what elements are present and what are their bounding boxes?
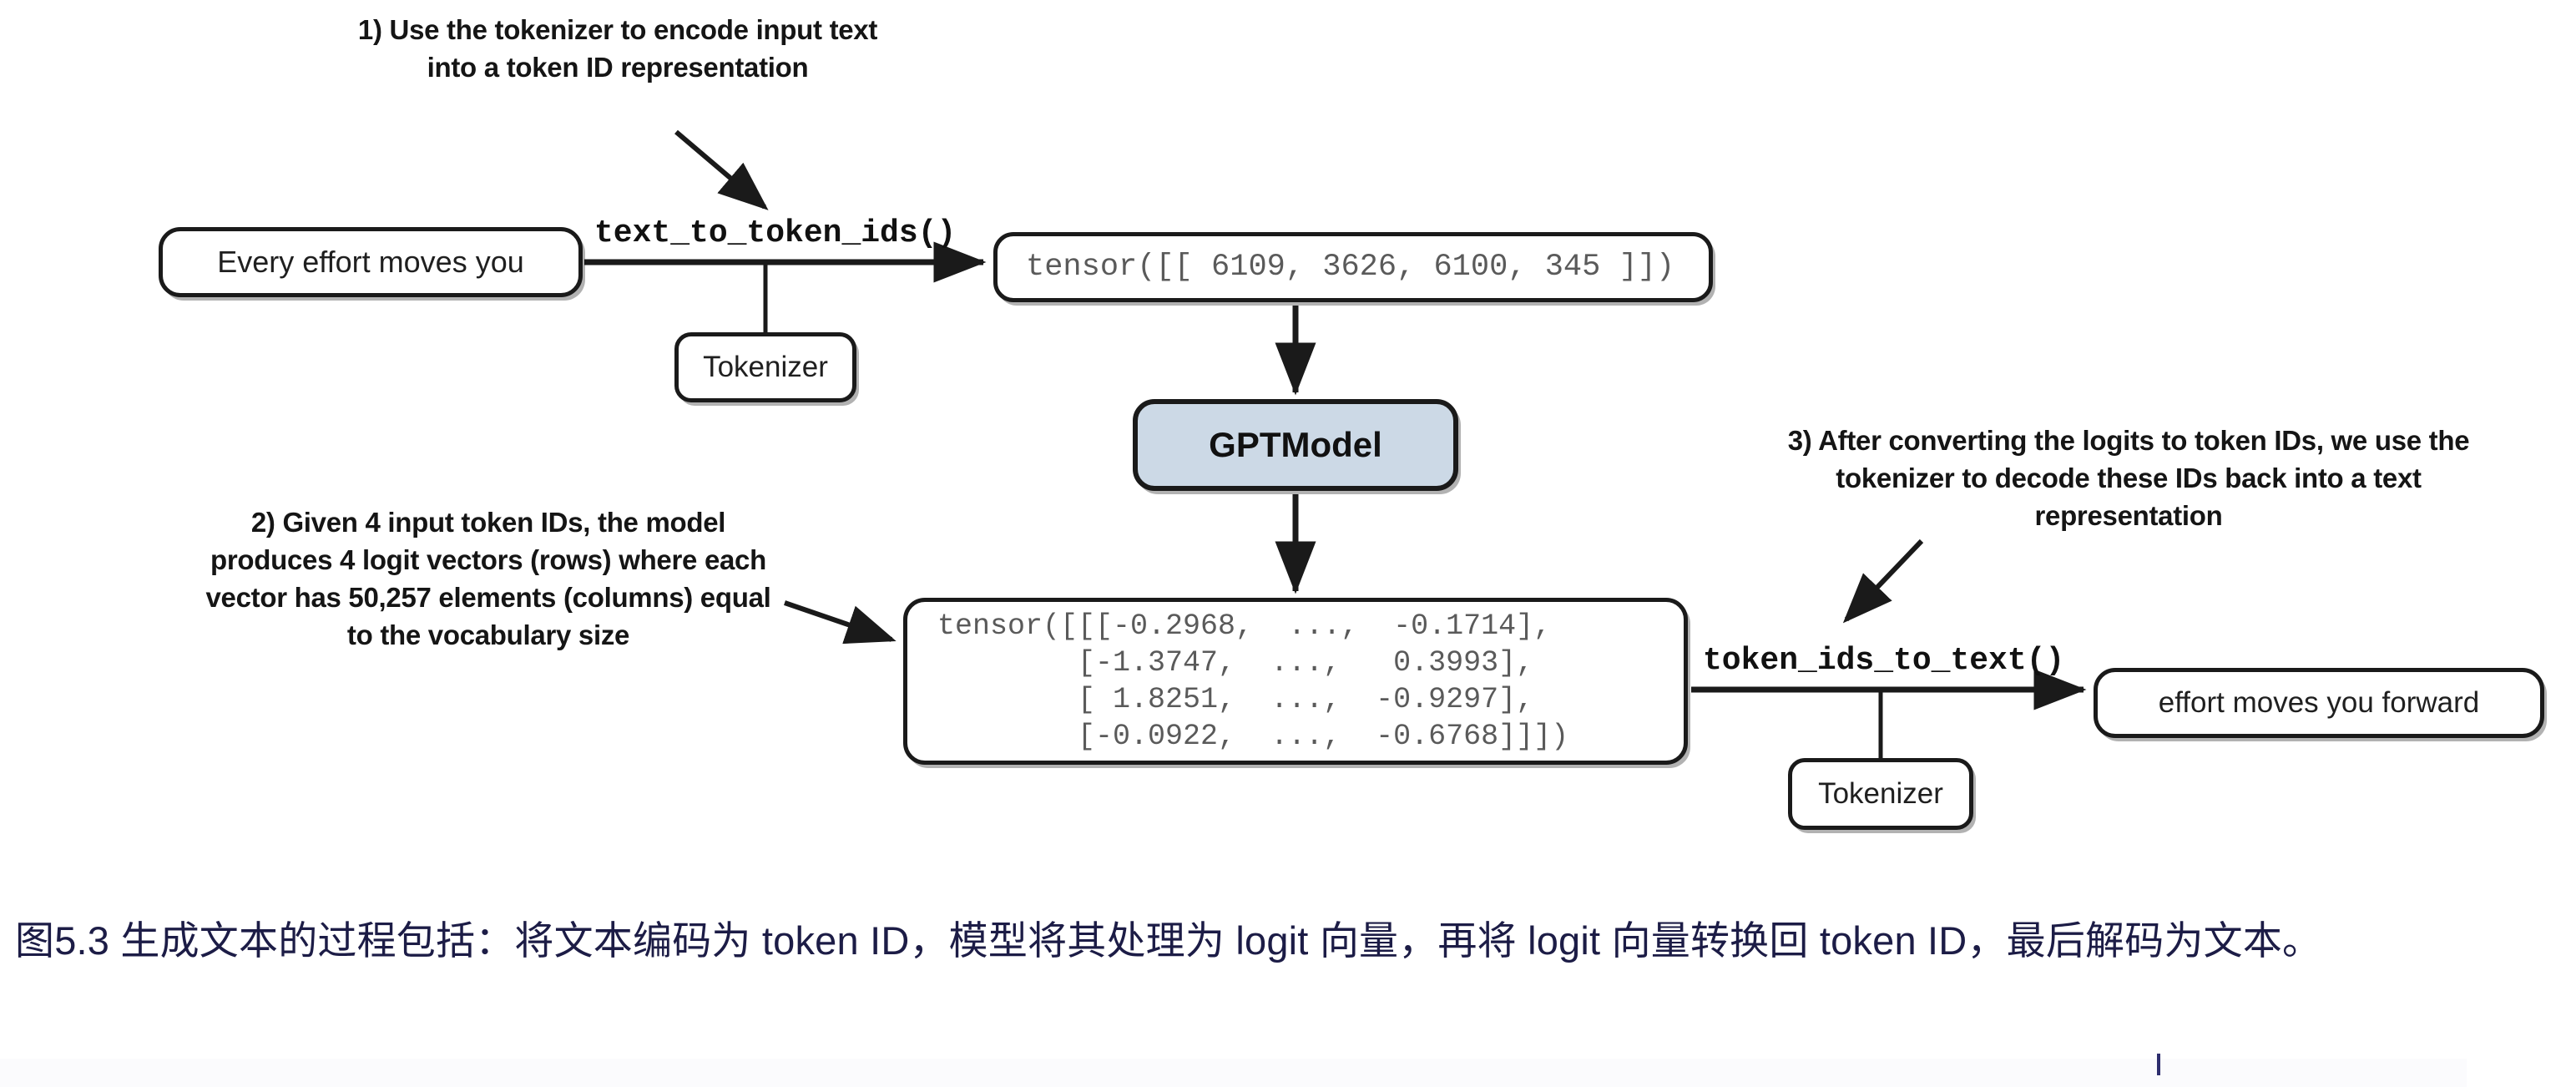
caption-background-wash	[0, 1059, 2467, 1087]
edge-label-token-ids-to-text: token_ids_to_text()	[1703, 643, 2064, 679]
tokenizer-box-encode: Tokenizer	[674, 332, 856, 402]
tokenizer-encode-label: Tokenizer	[703, 351, 828, 384]
input-text-label: Every effort moves you	[217, 245, 524, 280]
edge-label-text-to-token-ids: text_to_token_ids()	[594, 215, 956, 251]
annotation-step-1: 1) Use the tokenizer to encode input tex…	[330, 12, 906, 87]
logits-tensor-box: tensor([[[-0.2968, ..., -0.1714], [-1.37…	[903, 598, 1688, 765]
gpt-model-label: GPTModel	[1209, 425, 1382, 465]
token-ids-tensor-box: tensor([[ 6109, 3626, 6100, 345 ]])	[993, 232, 1713, 302]
leader-arrow-1	[676, 132, 765, 207]
figure-diagram: Every effort moves you Tokenizer tensor(…	[0, 0, 2576, 902]
tokenizer-decode-label: Tokenizer	[1818, 777, 1943, 811]
gpt-model-box: GPTModel	[1133, 399, 1458, 491]
figure-caption: 图5.3 生成文本的过程包括：将文本编码为 token ID，模型将其处理为 l…	[0, 915, 2576, 966]
leader-arrow-3	[1846, 541, 1922, 619]
leader-arrow-2	[785, 603, 891, 640]
annotation-step-3: 3) After converting the logits to token …	[1761, 422, 2496, 535]
logits-tensor-text: tensor([[[-0.2968, ..., -0.1714], [-1.37…	[937, 608, 1568, 755]
input-text-box: Every effort moves you	[159, 227, 583, 297]
text-cursor-caret	[2157, 1054, 2160, 1075]
output-text-label: effort moves you forward	[2159, 686, 2480, 720]
token-ids-tensor-text: tensor([[ 6109, 3626, 6100, 345 ]])	[1026, 250, 1674, 285]
output-text-box: effort moves you forward	[2094, 668, 2544, 738]
tokenizer-box-decode: Tokenizer	[1788, 758, 1973, 830]
annotation-step-2: 2) Given 4 input token IDs, the model pr…	[196, 504, 780, 655]
